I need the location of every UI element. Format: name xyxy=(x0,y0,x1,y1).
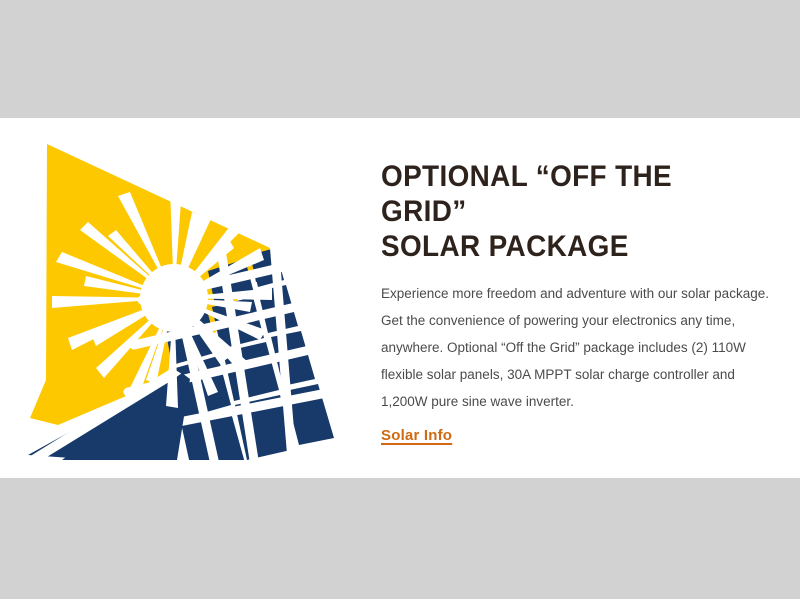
solar-logo xyxy=(22,130,352,460)
bottom-gray-band xyxy=(0,478,800,599)
text-column: OPTIONAL “OFF THE GRID” SOLAR PACKAGE Ex… xyxy=(381,160,781,445)
page-root: OPTIONAL “OFF THE GRID” SOLAR PACKAGE Ex… xyxy=(0,0,800,599)
solar-info-link[interactable]: Solar Info xyxy=(381,428,452,443)
content-band: OPTIONAL “OFF THE GRID” SOLAR PACKAGE Ex… xyxy=(0,118,800,478)
page-title: OPTIONAL “OFF THE GRID” SOLAR PACKAGE xyxy=(381,160,753,264)
top-gray-band xyxy=(0,0,800,118)
body-paragraph: Experience more freedom and adventure wi… xyxy=(381,280,781,415)
